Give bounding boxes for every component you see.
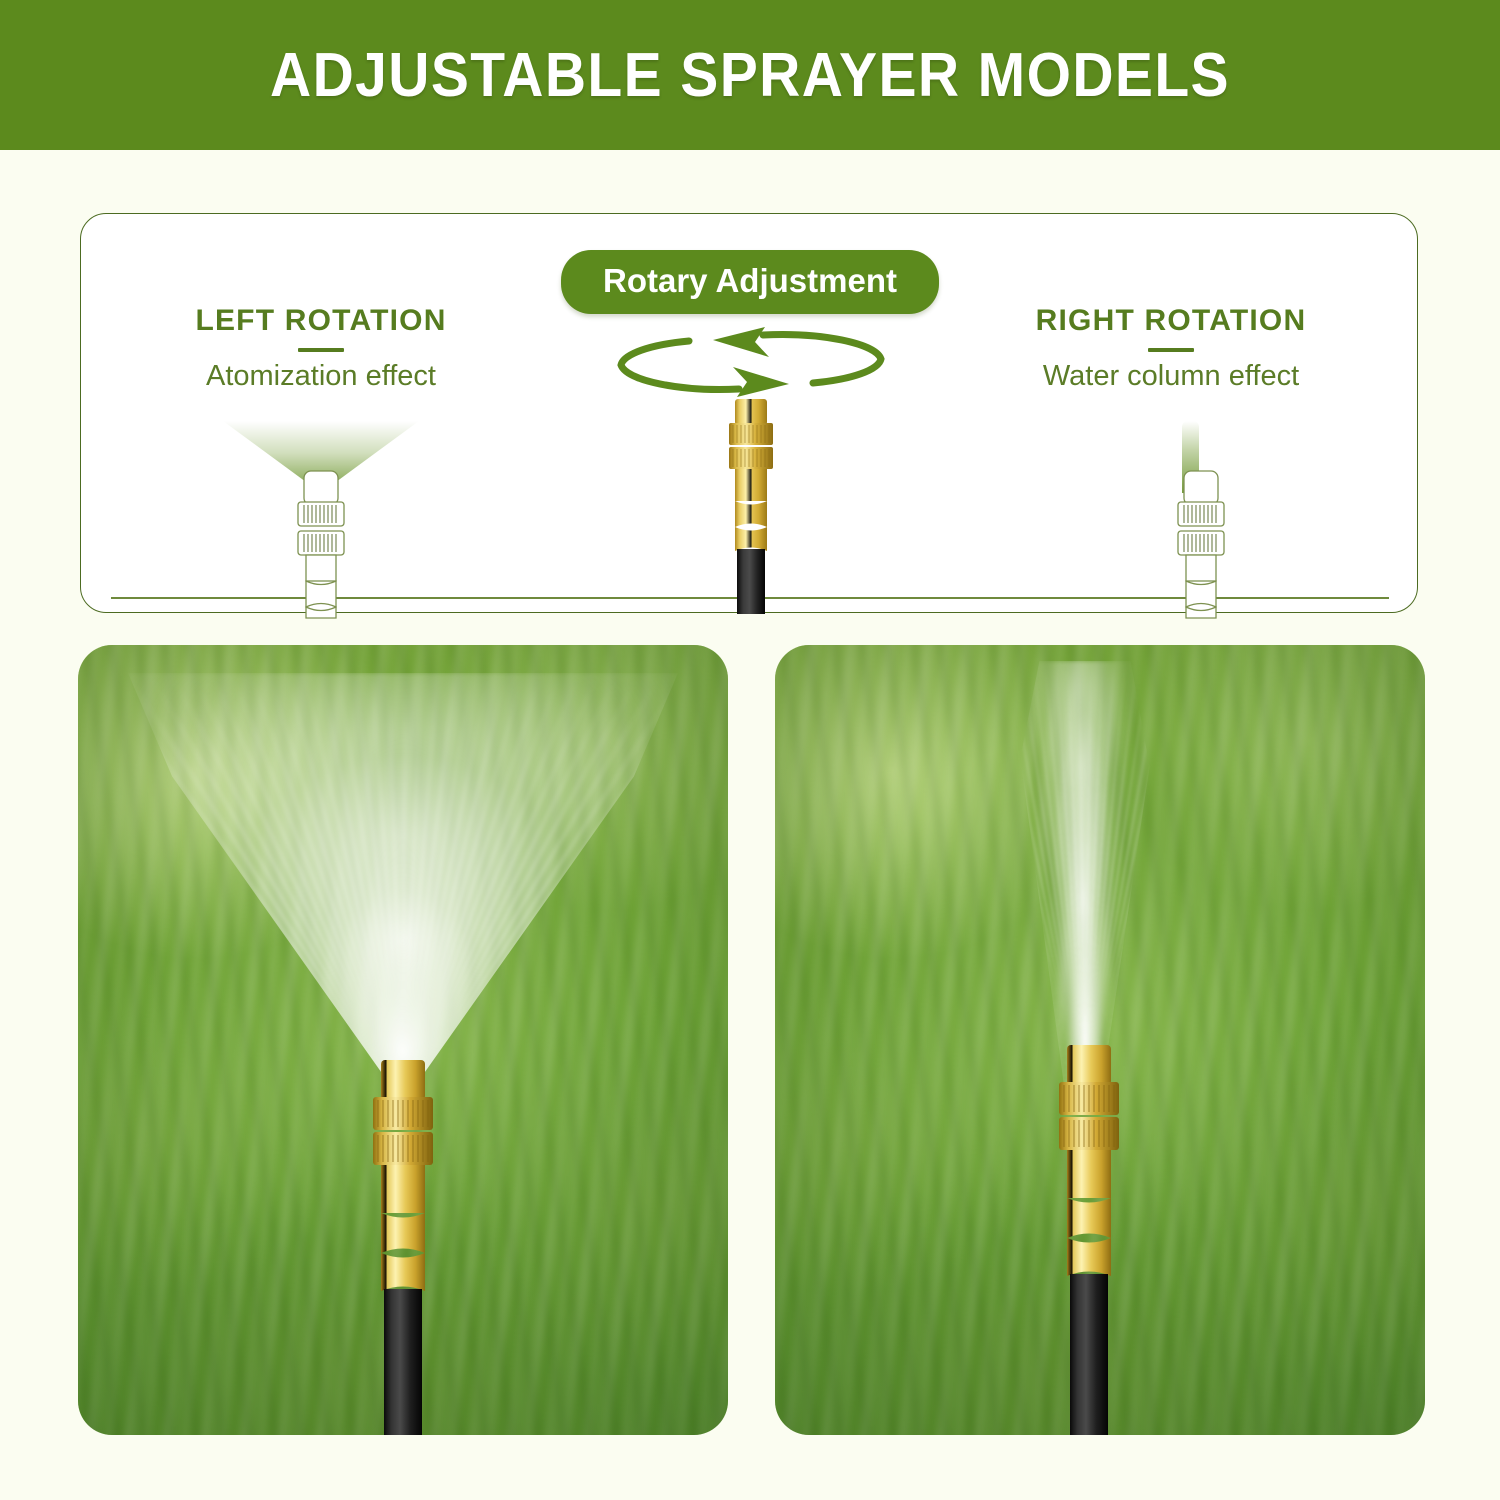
right-divider (1148, 348, 1194, 352)
left-rotation-title: LEFT ROTATION (111, 304, 531, 338)
water-jet-streaks (990, 661, 1180, 1101)
water-column-photo (775, 645, 1425, 1435)
right-rotation-subtitle: Water column effect (961, 360, 1381, 393)
rotary-adjustment-badge: Rotary Adjustment (561, 250, 939, 314)
center-brass-nozzle-icon (715, 399, 787, 619)
photo-brass-nozzle-right (1043, 1045, 1135, 1435)
right-rotation-title: RIGHT ROTATION (961, 304, 1381, 338)
mist-streaks (128, 673, 678, 1103)
right-outline-nozzle-icon (1170, 469, 1232, 624)
left-divider (298, 348, 344, 352)
left-rotation-text-block: LEFT ROTATION Atomization effect (111, 304, 531, 393)
left-outline-nozzle-icon (290, 469, 352, 624)
page-header: ADJUSTABLE SPRAYER MODELS (0, 0, 1500, 150)
water-jet-spray (990, 661, 1180, 1101)
mist-spray (128, 673, 678, 1103)
atomization-photo (78, 645, 728, 1435)
right-rotation-text-block: RIGHT ROTATION Water column effect (961, 304, 1381, 393)
rotation-arrows-icon (613, 323, 889, 401)
page-title: ADJUSTABLE SPRAYER MODELS (60, 0, 1440, 150)
left-rotation-subtitle: Atomization effect (111, 360, 531, 393)
photo-brass-nozzle-left (357, 1060, 449, 1435)
